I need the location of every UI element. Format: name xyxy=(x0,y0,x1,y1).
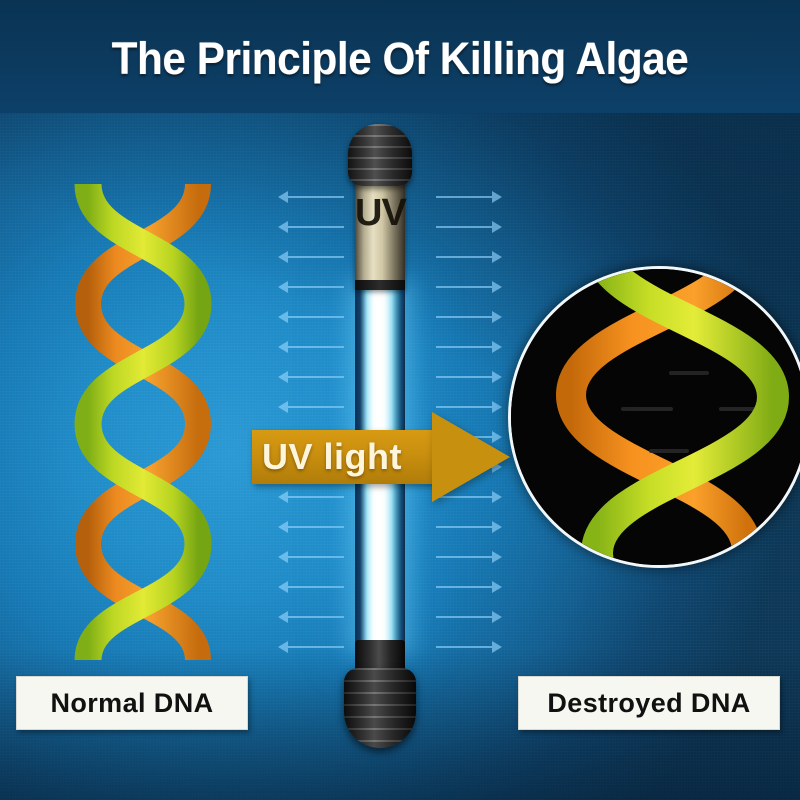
lamp-uv-marking: UV xyxy=(355,192,405,235)
destroyed-dna-magnifier xyxy=(508,266,800,568)
uv-light-label: UV light xyxy=(262,430,448,484)
lamp-top-cap xyxy=(348,124,412,186)
lamp-upper-collar: UV xyxy=(355,178,405,290)
page-title: The Principle Of Killing Algae xyxy=(24,0,776,113)
lamp-bottom-cap xyxy=(344,668,416,748)
normal-dna-label: Normal DNA xyxy=(16,676,248,730)
infographic-canvas: The Principle Of Killing Algae xyxy=(0,0,800,800)
lamp-collar-band xyxy=(355,280,405,290)
uv-light-arrow: UV light xyxy=(252,412,510,502)
destroyed-dna-label: Destroyed DNA xyxy=(518,676,780,730)
dna-double-helix-icon xyxy=(48,178,238,660)
header-bar: The Principle Of Killing Algae xyxy=(0,0,800,113)
normal-dna-helix xyxy=(48,178,238,660)
broken-dna-helix-icon xyxy=(511,269,800,565)
